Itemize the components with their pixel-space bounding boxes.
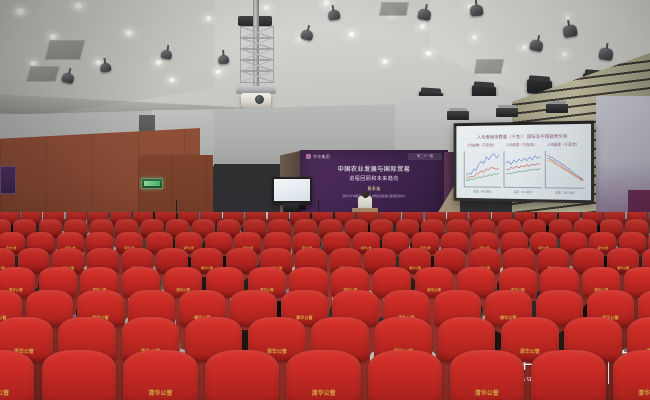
slide-title: 人均食物消费量（千克）：国际及中国趋势分析 bbox=[456, 133, 591, 141]
auditorium-seat: 清华公管 bbox=[450, 350, 524, 400]
slide-chart-caption: 来源：FAO 统计 bbox=[546, 190, 585, 195]
banner-title-line1: 中国农业发展与国际贸易 bbox=[302, 164, 446, 173]
auditorium-seat bbox=[205, 350, 279, 400]
ceiling-equipment-box bbox=[546, 104, 568, 113]
downlight-icon bbox=[470, 35, 479, 40]
auditorium-seat: 清华公管 bbox=[123, 350, 197, 400]
spotlight-icon bbox=[160, 49, 172, 59]
downlight-icon bbox=[154, 60, 163, 65]
sponsor-mark-icon bbox=[306, 154, 311, 159]
downlight-icon bbox=[168, 78, 176, 82]
monitor-screen bbox=[274, 179, 310, 201]
seat-embroidery: 清华公管 bbox=[0, 388, 9, 397]
auditorium-seat: 清华公管 bbox=[613, 350, 650, 400]
slide-subtitle: 人均谷物（千克/年） bbox=[467, 142, 497, 147]
lift-scissor-section bbox=[240, 70, 274, 83]
seat-embroidery: 清华公管 bbox=[475, 388, 499, 397]
projector-lens-icon bbox=[255, 95, 264, 104]
banner-affiliation: 清华大学中国农村研究院 中国农业政策与发展研究中心 bbox=[302, 195, 446, 199]
slide-chart-1: 来源：FAO 统计 bbox=[464, 151, 501, 188]
wall-poster bbox=[0, 166, 16, 194]
downlight-icon bbox=[124, 30, 134, 36]
downlight-icon bbox=[418, 24, 427, 29]
seat-embroidery: 清华公管 bbox=[520, 348, 540, 355]
ceiling-vent bbox=[45, 40, 86, 60]
downlight-icon bbox=[73, 3, 84, 9]
spotlight-icon bbox=[218, 54, 230, 64]
banner-series-label: 第二十一期 bbox=[408, 153, 442, 160]
monitor-icon bbox=[272, 177, 312, 205]
seat-embroidery: 清华公管 bbox=[148, 388, 172, 397]
downlight-icon bbox=[381, 59, 389, 64]
downlight-icon bbox=[520, 45, 529, 50]
downlight-icon bbox=[424, 51, 433, 56]
spotlight-icon bbox=[469, 4, 483, 16]
slide-subtitle: 人均蔬菜（千克/年） bbox=[547, 141, 579, 146]
screen-surface: 人均食物消费量（千克）：国际及中国趋势分析 人均谷物（千克/年） 人均肉类（千克… bbox=[456, 124, 591, 200]
banner-sponsor-logo: 京东集团 bbox=[306, 154, 336, 162]
photograph-canvas: 京东集团 第二十一期 中国农业发展与国际贸易 进程回顾和未来趋向 黄季焔 清华大… bbox=[0, 0, 650, 400]
ceiling-equipment-box bbox=[447, 111, 469, 120]
ceiling-vent bbox=[26, 66, 61, 82]
ceiling-equipment-box bbox=[496, 108, 518, 117]
slide-chart-3: 来源：FAO 统计 bbox=[545, 151, 585, 189]
slide-chart-2: 来源：FAO 统计 bbox=[503, 151, 541, 188]
banner-logo-text: 京东集团 bbox=[313, 154, 330, 159]
slide-chart-caption: 来源：FAO 统计 bbox=[465, 189, 501, 193]
projection-screen: 人均食物消费量（千克）：国际及中国趋势分析 人均谷物（千克/年） 人均肉类（千克… bbox=[454, 121, 595, 204]
spotlight-icon bbox=[598, 47, 614, 61]
slide-subtitles: 人均谷物（千克/年） 人均肉类（千克/年） 人均蔬菜（千克/年） bbox=[456, 141, 591, 147]
auditorium-seat bbox=[531, 350, 605, 400]
seat-embroidery: 清华公管 bbox=[183, 246, 193, 250]
seat-embroidery: 清华公管 bbox=[312, 388, 336, 397]
ceiling-vent bbox=[379, 2, 409, 16]
slide-chart-caption: 来源：FAO 统计 bbox=[504, 190, 541, 195]
audience-seating: 清华公管清华公管清华公管清华公管清华公管清华公管清华公管清华公管清华公管清华公管… bbox=[0, 212, 650, 400]
spotlight-icon bbox=[417, 8, 432, 21]
seat-embroidery: 清华公管 bbox=[267, 348, 287, 355]
downlight-icon bbox=[321, 0, 332, 6]
banner-text-block: 中国农业发展与国际贸易 进程回顾和未来趋向 黄季焔 清华大学中国农村研究院 中国… bbox=[302, 164, 446, 199]
exit-sign-icon bbox=[141, 178, 163, 189]
downlight-icon bbox=[204, 16, 213, 21]
banner-title-line2: 进程回顾和未来趋向 bbox=[302, 175, 446, 182]
auditorium-seat: 清华公管 bbox=[286, 350, 360, 400]
spotlight-icon bbox=[529, 39, 544, 52]
spotlight-icon bbox=[562, 24, 578, 38]
downlight-icon bbox=[560, 52, 569, 57]
projector-lift bbox=[236, 0, 276, 108]
auditorium-seat bbox=[42, 350, 116, 400]
auditorium-seat: 清华公管 bbox=[0, 350, 34, 400]
auditorium-seat bbox=[368, 350, 442, 400]
downlight-icon bbox=[347, 32, 356, 37]
slide-subtitle: 人均肉类（千克/年） bbox=[506, 142, 537, 147]
seat-embroidery: 清华公管 bbox=[638, 388, 650, 397]
ceiling-vent bbox=[474, 59, 505, 74]
speaker-head bbox=[362, 191, 369, 198]
banner-speaker-name: 黄季焔 bbox=[302, 186, 446, 192]
spotlight-icon bbox=[327, 9, 340, 21]
downlight-icon bbox=[14, 8, 26, 15]
downlight-icon bbox=[214, 70, 222, 74]
